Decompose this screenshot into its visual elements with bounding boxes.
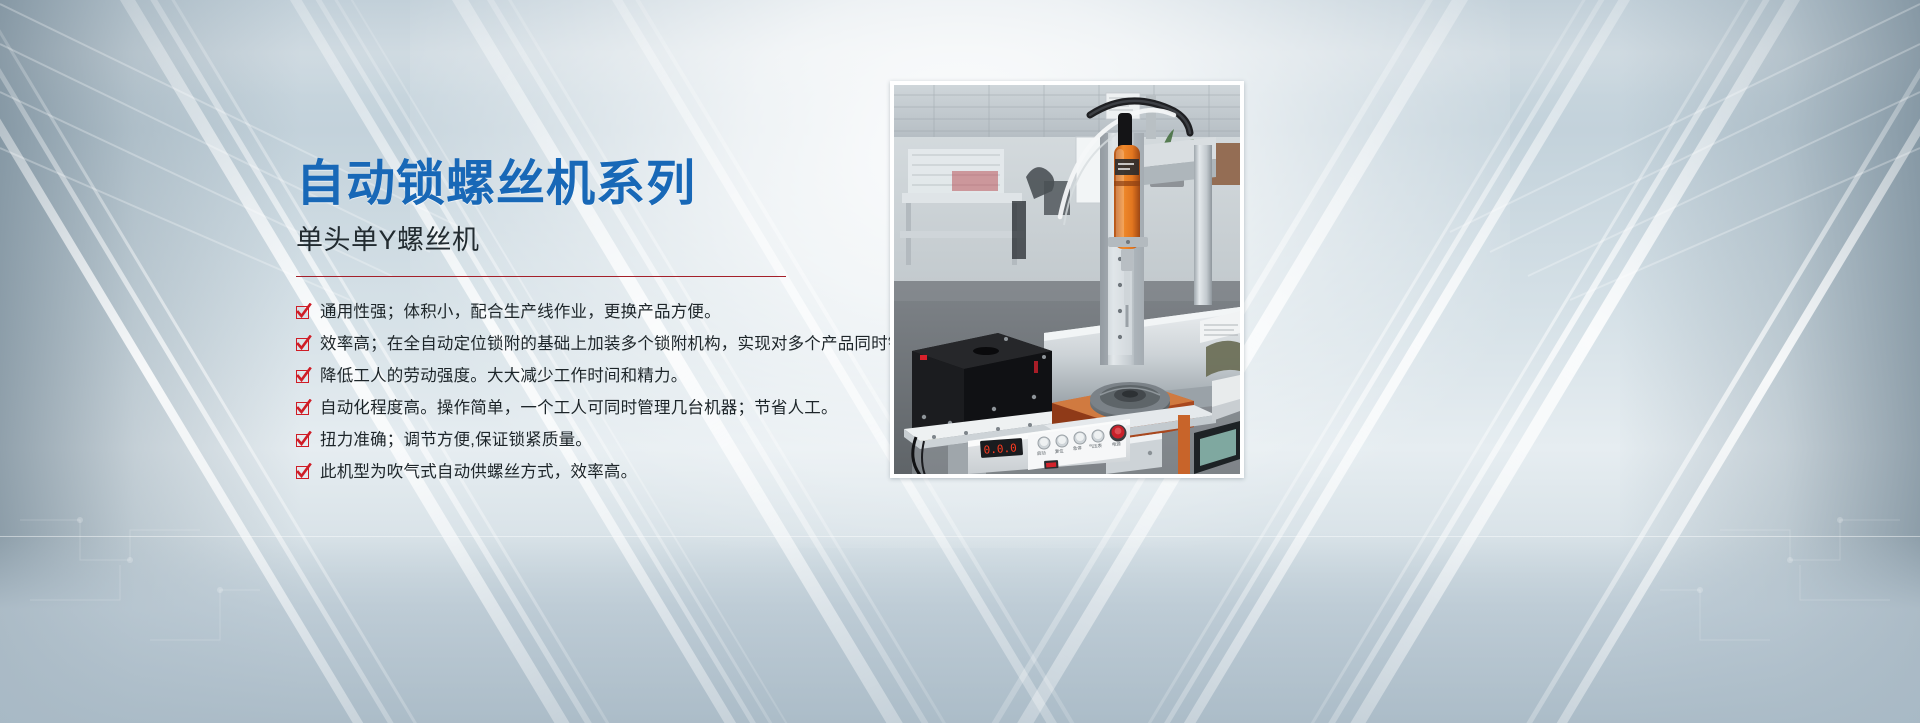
list-item: 自动化程度高。操作简单，一个工人可同时管理几台机器；节省人工。 — [296, 399, 896, 418]
title-divider — [296, 276, 786, 277]
banner-text-block: 自动锁螺丝机系列 单头单Y螺丝机 通用性强；体积小，配合生产线作业，更换产品方便… — [296, 160, 896, 495]
product-photo-card: 0.0.0 — [890, 81, 1244, 478]
panel-display-value: 0.0.0 — [983, 441, 1017, 456]
feature-list: 通用性强；体积小，配合生产线作业，更换产品方便。 效率高；在全自动定位锁附的基础… — [296, 303, 896, 482]
floor-shade — [0, 533, 1920, 723]
automatic-screw-tightening-machine-photo: 0.0.0 — [894, 85, 1240, 474]
feature-text: 自动化程度高。操作简单，一个工人可同时管理几台机器；节省人工。 — [320, 399, 838, 418]
right-wall-shade — [1620, 0, 1920, 723]
list-item: 此机型为吹气式自动供螺丝方式，效率高。 — [296, 463, 896, 482]
check-box-icon — [296, 338, 309, 351]
list-item: 效率高；在全自动定位锁附的基础上加装多个锁附机构，实现对多个产品同时锁附。 — [296, 335, 896, 354]
product-subtitle: 单头单Y螺丝机 — [296, 227, 896, 254]
feature-text: 降低工人的劳动强度。大大减少工作时间和精力。 — [320, 367, 687, 386]
feature-text: 此机型为吹气式自动供螺丝方式，效率高。 — [320, 463, 637, 482]
list-item: 扭力准确；调节方便,保证锁紧质量。 — [296, 431, 896, 450]
product-banner: 自动锁螺丝机系列 单头单Y螺丝机 通用性强；体积小，配合生产线作业，更换产品方便… — [0, 0, 1920, 723]
feature-text: 扭力准确；调节方便,保证锁紧质量。 — [320, 431, 592, 450]
list-item: 通用性强；体积小，配合生产线作业，更换产品方便。 — [296, 303, 896, 322]
check-box-icon — [296, 402, 309, 415]
list-item: 降低工人的劳动强度。大大减少工作时间和精力。 — [296, 367, 896, 386]
feature-text: 通用性强；体积小，配合生产线作业，更换产品方便。 — [320, 303, 721, 322]
check-box-icon — [296, 466, 309, 479]
floor-horizon-line — [0, 536, 1920, 537]
feature-text: 效率高；在全自动定位锁附的基础上加装多个锁附机构，实现对多个产品同时锁附。 — [320, 335, 938, 354]
check-box-icon — [296, 370, 309, 383]
left-wall-shade — [0, 0, 300, 723]
page-title: 自动锁螺丝机系列 — [296, 160, 896, 209]
check-box-icon — [296, 306, 309, 319]
check-box-icon — [296, 434, 309, 447]
